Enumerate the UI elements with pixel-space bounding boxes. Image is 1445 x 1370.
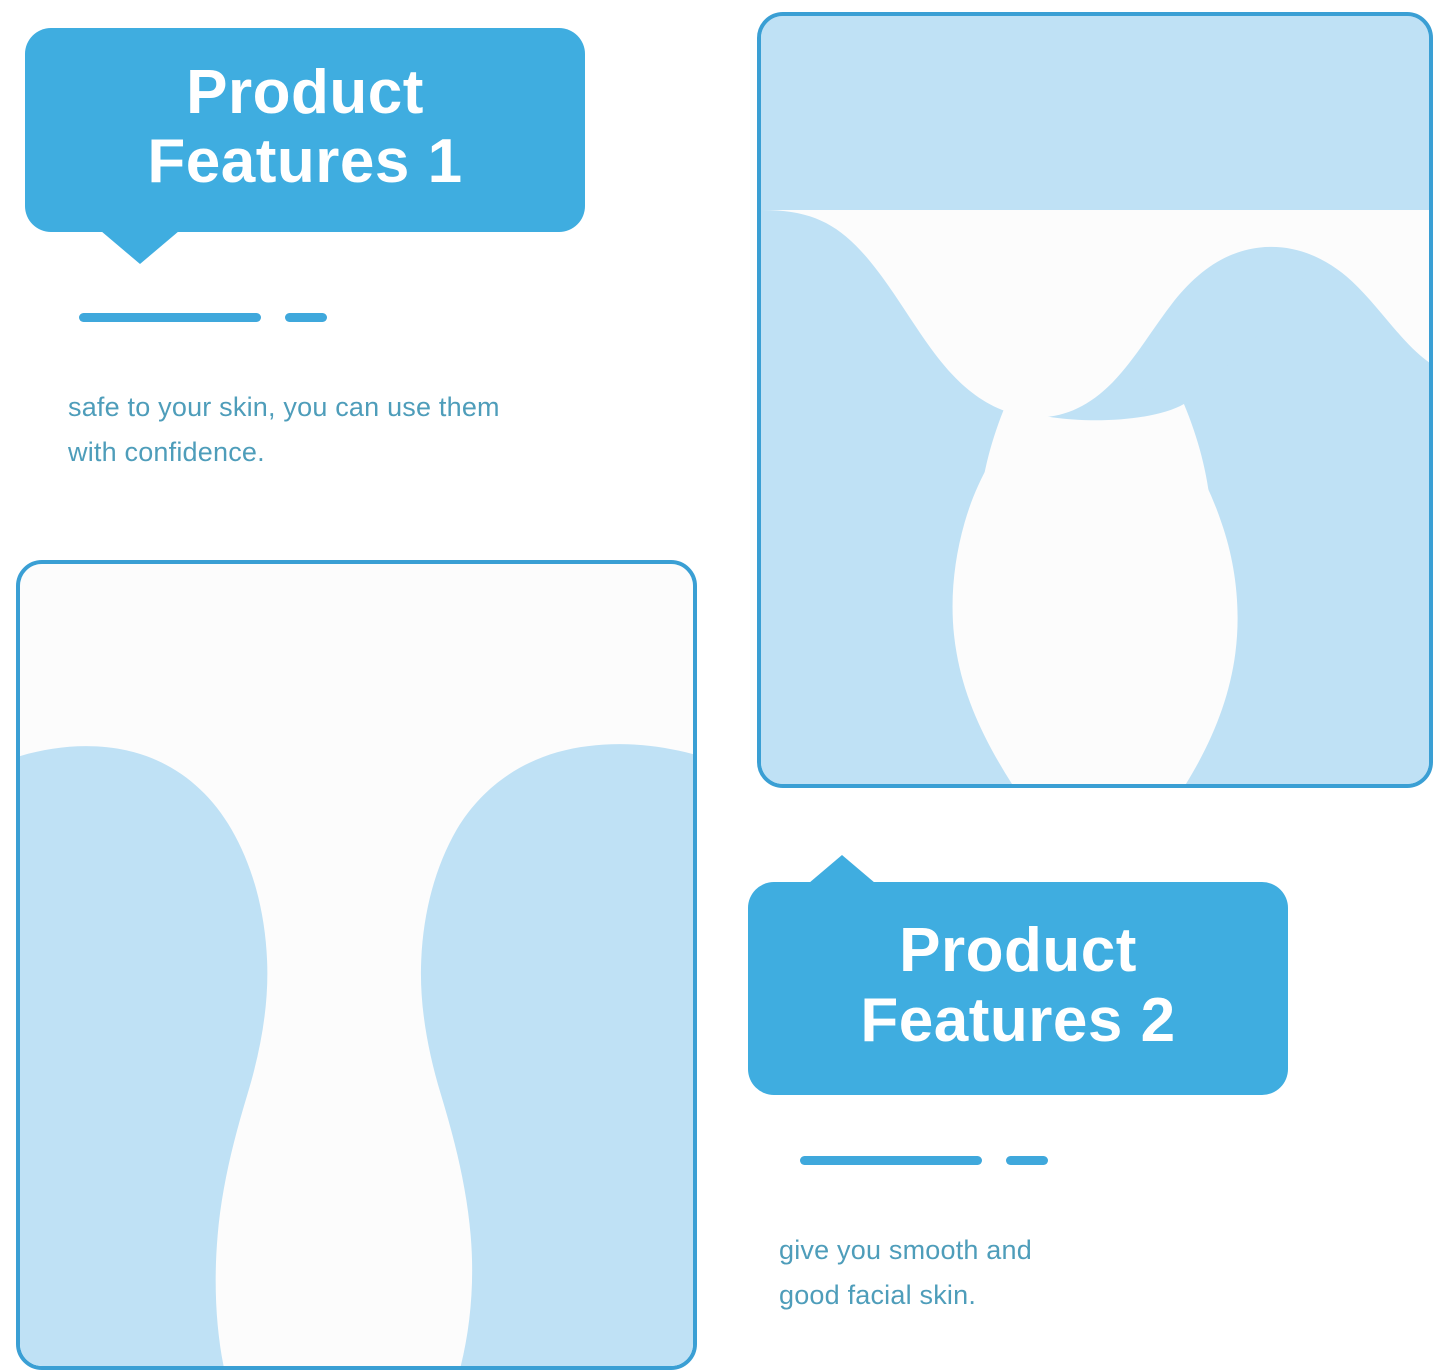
infographic-canvas: Product Features 1 safe to your skin, yo… — [0, 0, 1445, 1358]
feature-1-heading-text: Product Features 1 — [147, 58, 462, 197]
feature-2-body-text: give you smooth and good facial skin. — [779, 1228, 1199, 1319]
product-photo-top-right — [757, 12, 1433, 788]
divider-short-rule-icon — [1006, 1156, 1048, 1165]
divider-short-rule-icon — [285, 313, 327, 322]
product-strip-vertical-illustration — [20, 564, 693, 1366]
product-strip-horizontal-illustration — [761, 16, 1429, 784]
product-photo-bottom-left — [16, 560, 697, 1370]
feature-2-divider — [800, 1156, 1048, 1165]
feature-1-body-text: safe to your skin, you can use them with… — [68, 385, 628, 476]
divider-long-rule-icon — [800, 1156, 982, 1165]
feature-1-divider — [79, 313, 327, 322]
feature-2-heading-text: Product Features 2 — [860, 916, 1175, 1055]
divider-long-rule-icon — [79, 313, 261, 322]
feature-2-heading-bubble: Product Features 2 — [748, 882, 1288, 1095]
feature-1-heading-bubble: Product Features 1 — [25, 28, 585, 232]
